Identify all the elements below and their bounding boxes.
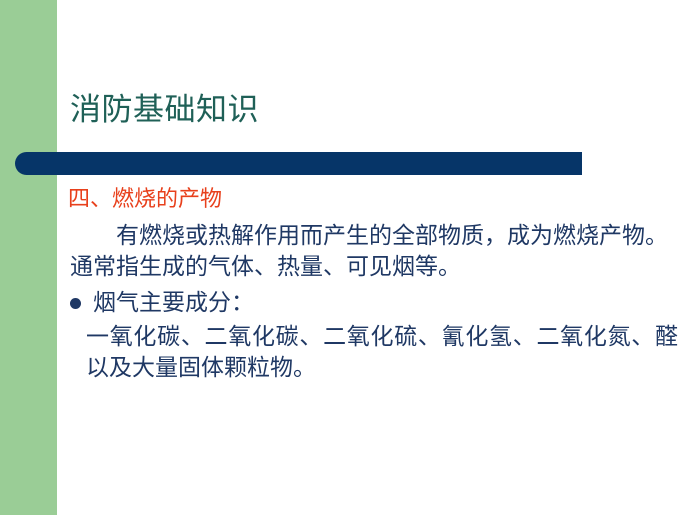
paragraph-smoke-composition: 一氧化碳、二氧化碳、二氧化硫、氰化氢、二氧化氮、醛以及大量固体颗粒物。: [86, 321, 678, 383]
page-title: 消防基础知识: [70, 90, 590, 130]
section-heading: 四、燃烧的产物: [68, 184, 684, 214]
left-green-band: [0, 0, 57, 515]
list-item: 烟气主要成分：: [70, 286, 684, 319]
bullet-dot-icon: [70, 298, 81, 309]
slide-body: 四、燃烧的产物 有燃烧或热解作用而产生的全部物质，成为燃烧产物。通常指生成的气体…: [68, 184, 684, 383]
paragraph-combustion-products: 有燃烧或热解作用而产生的全部物质，成为燃烧产物。通常指生成的气体、热量、可见烟等…: [70, 220, 668, 282]
title-divider-bar: [15, 152, 582, 175]
slide-canvas: 消防基础知识 四、燃烧的产物 有燃烧或热解作用而产生的全部物质，成为燃烧产物。通…: [0, 0, 700, 525]
list-item-label: 烟气主要成分：: [93, 286, 254, 319]
